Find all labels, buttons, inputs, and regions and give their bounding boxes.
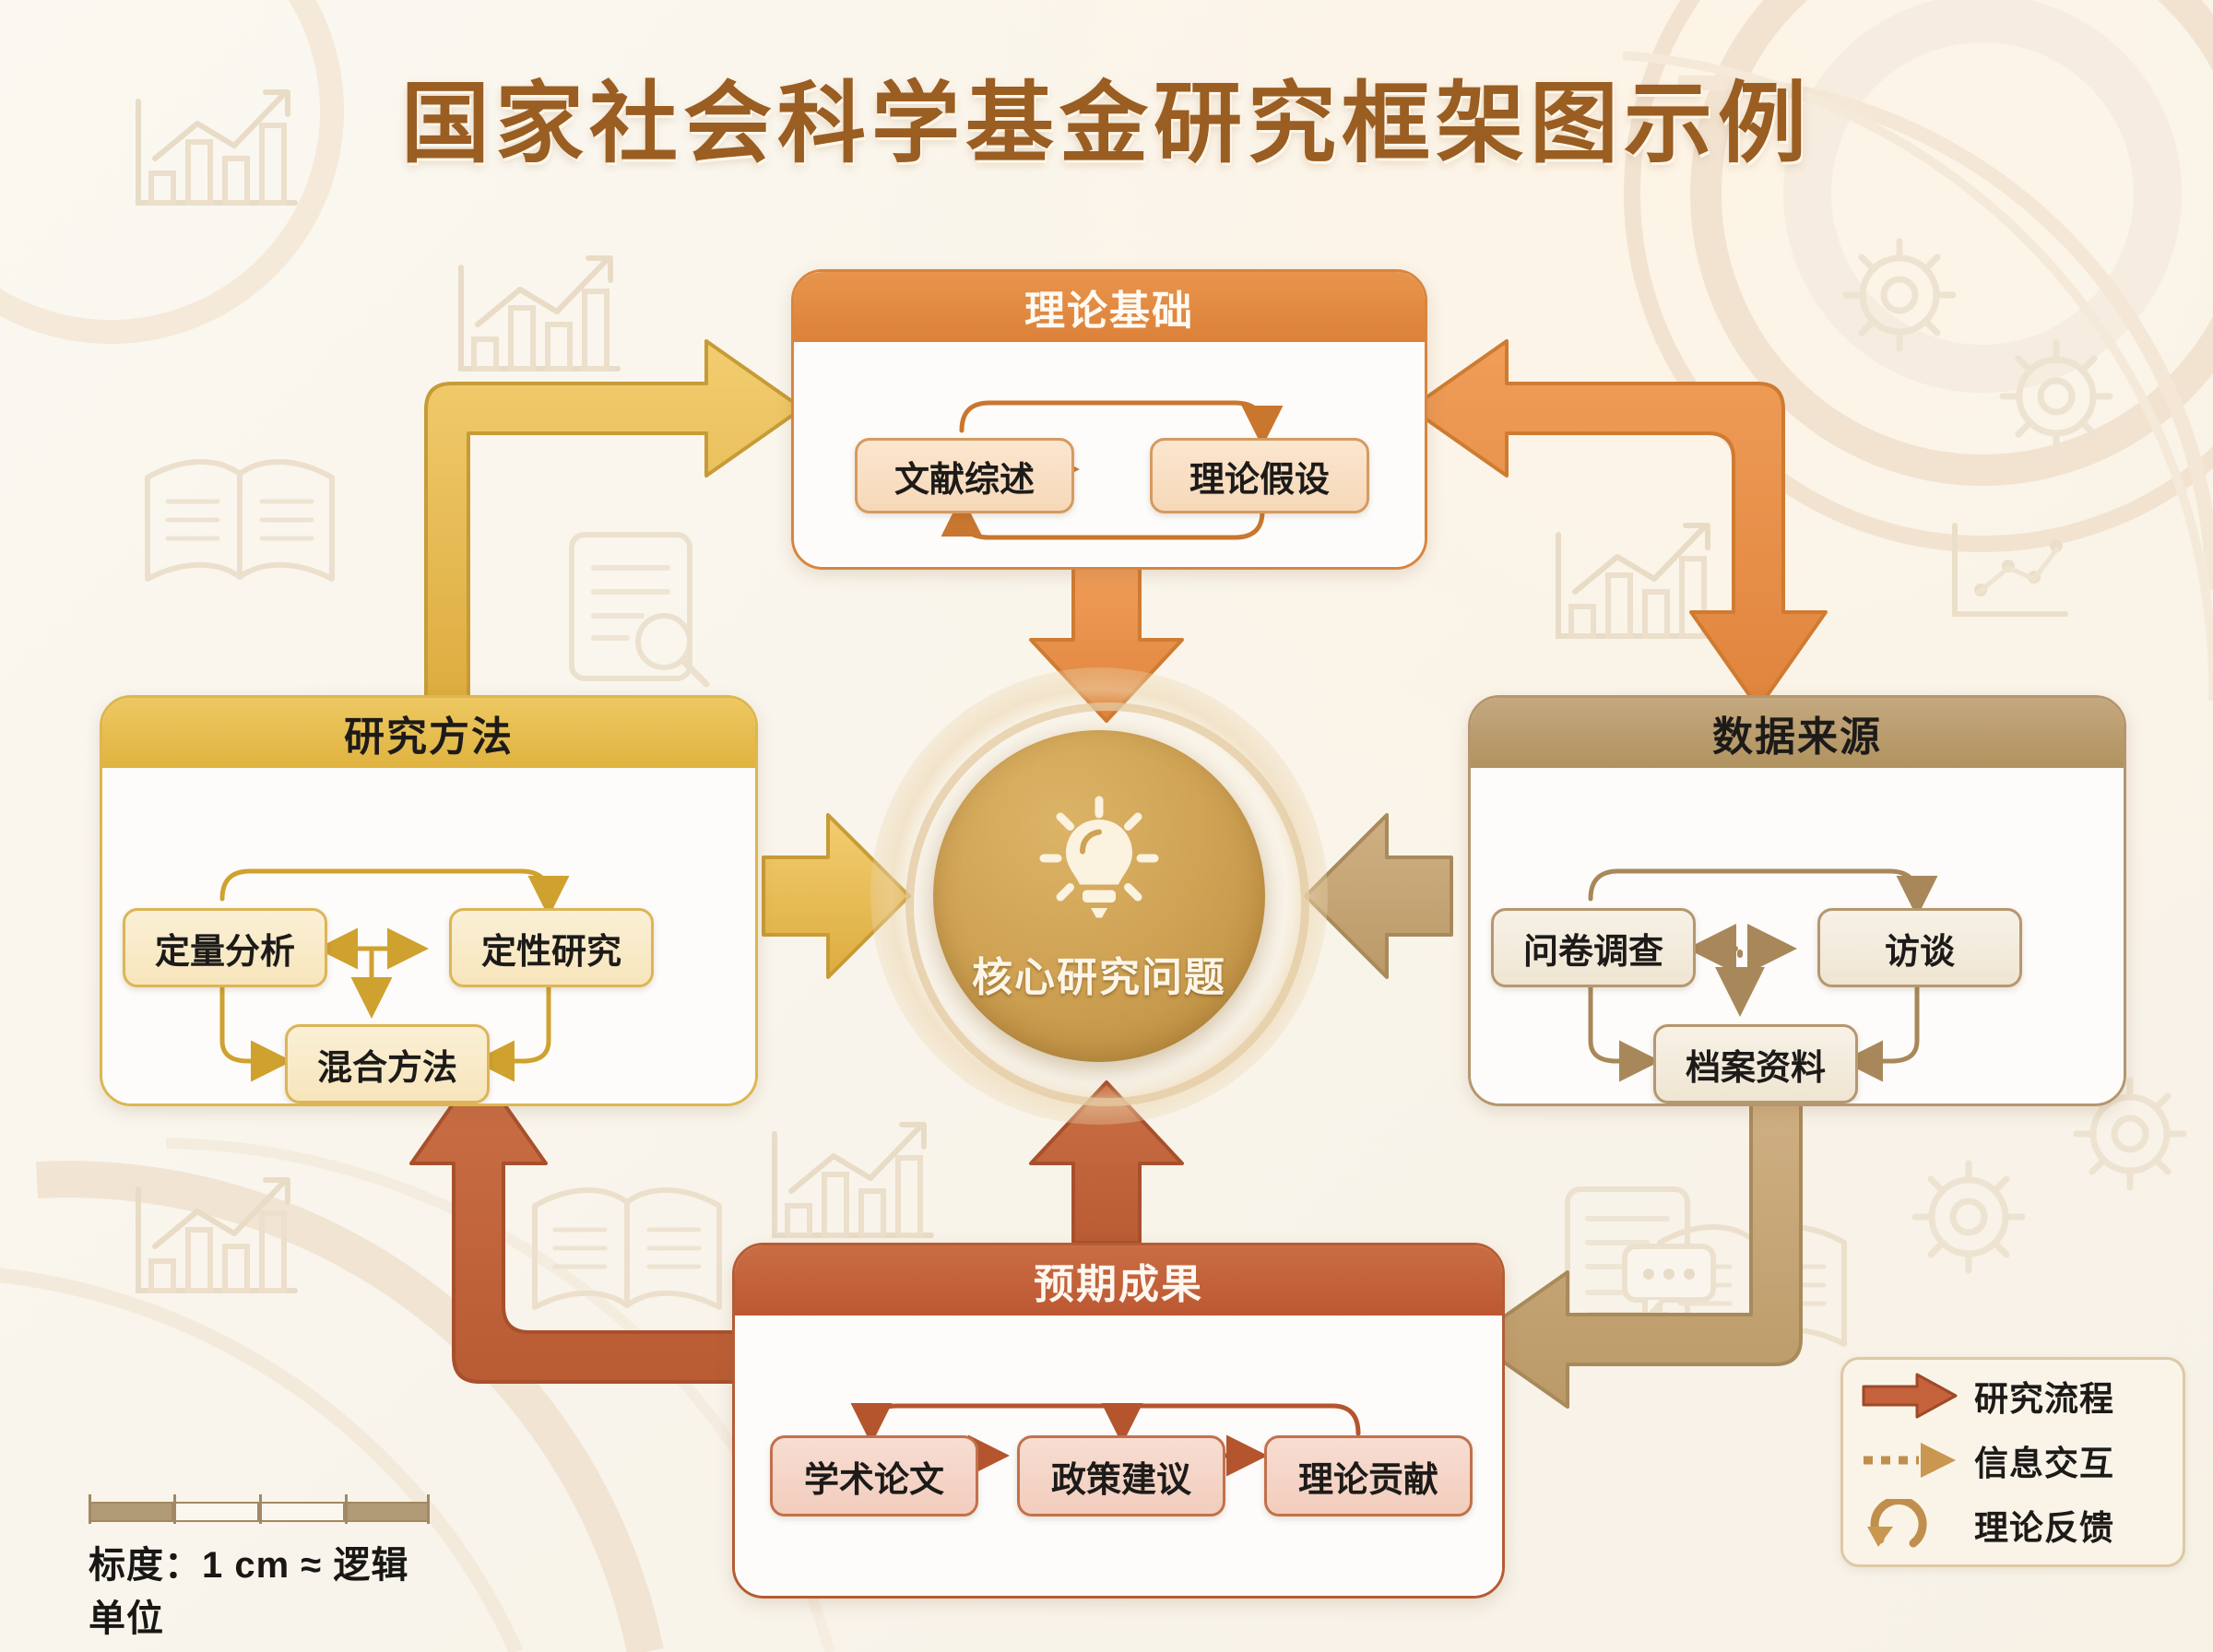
center-hub[interactable]: 核心研究问题 [865,662,1333,1130]
arrow-data-to-outcomes [1472,1093,1801,1407]
legend-label: 理论反馈 [1974,1500,2114,1550]
scale-tick [345,1494,348,1524]
node-interview[interactable]: 访谈 [1817,908,2022,987]
lightbulb-icon [1030,789,1168,927]
diagram-canvas: 国家社会科学基金研究框架图示例 理论基础 文献综述 [0,0,2213,1652]
node-mixed-methods[interactable]: 混合方法 [285,1024,490,1103]
core-label: 核心研究问题 [972,944,1226,1003]
node-theoretical-contribution[interactable]: 理论贡献 [1264,1435,1473,1516]
legend-item-feedback[interactable]: 理论反馈 [1860,1496,2114,1553]
scale-bar-group: 标度：1 cm ≈ 逻辑单位 [89,1494,430,1642]
scale-tick [427,1494,430,1524]
node-label: 理论假设 [1189,451,1330,501]
legend-item-interaction[interactable]: 信息交互 [1860,1432,2114,1489]
scale-segment [89,1502,173,1522]
scale-tick [89,1494,91,1524]
scale-label: 标度：1 cm ≈ 逻辑单位 [89,1535,430,1642]
node-label: 文献综述 [894,451,1035,501]
scale-tick [173,1494,176,1524]
panel-outcomes-title: 预期成果 [735,1245,1502,1316]
panel-methods[interactable]: 研究方法 [100,695,758,1106]
node-policy-recommendation[interactable]: 政策建议 [1017,1435,1225,1516]
node-academic-paper[interactable]: 学术论文 [770,1435,978,1516]
legend-label: 信息交互 [1974,1435,2114,1485]
legend-panel: 研究流程 信息交互 理论反馈 [1840,1357,2185,1567]
arrow-outcomes-to-methods [411,1068,738,1382]
node-theoretical-hypothesis[interactable]: 理论假设 [1150,438,1369,513]
panel-methods-title: 研究方法 [102,698,755,768]
panel-theory-title: 理论基础 [794,272,1425,342]
title-bar: 国家社会科学基金研究框架图示例 [0,52,2213,180]
curved-feedback-arrow-icon [1860,1499,1961,1551]
node-label: 理论贡献 [1298,1451,1438,1502]
panel-data[interactable]: 数据来源 [1468,695,2126,1106]
legend-label: 研究流程 [1974,1371,2114,1421]
legend-item-process[interactable]: 研究流程 [1860,1367,2114,1424]
node-label: 问卷调查 [1523,923,1663,973]
node-literature-review[interactable]: 文献综述 [855,438,1074,513]
node-label: 定量分析 [155,923,295,973]
scale-segment [345,1502,430,1522]
panel-theory[interactable]: 理论基础 文献综述 理论假设 [791,269,1427,570]
node-qualitative-research[interactable]: 定性研究 [449,908,654,987]
node-label: 混合方法 [317,1039,457,1090]
node-archival-materials[interactable]: 档案资料 [1653,1024,1858,1103]
page-title: 国家社会科学基金研究框架图示例 [0,52,2213,180]
scale-bar [89,1494,430,1522]
panel-data-title: 数据来源 [1471,698,2124,768]
node-label: 访谈 [1885,923,1955,973]
scale-segment [173,1502,259,1522]
node-questionnaire-survey[interactable]: 问卷调查 [1491,908,1696,987]
node-label: 政策建议 [1051,1451,1191,1502]
panel-outcomes[interactable]: 预期成果 学术论文 政策建议 [732,1243,1505,1599]
scale-tick [259,1494,262,1524]
arrow-theory-to-data [1411,341,1826,708]
node-quantitative-analysis[interactable]: 定量分析 [123,908,327,987]
core-circle[interactable]: 核心研究问题 [933,730,1265,1062]
node-label: 学术论文 [804,1451,944,1502]
node-label: 档案资料 [1686,1039,1826,1090]
dotted-arrow-icon [1860,1434,1961,1486]
arrow-methods-to-theory [426,341,802,701]
solid-arrow-icon [1860,1370,1961,1422]
scale-segment [259,1502,345,1522]
node-label: 定性研究 [481,923,621,973]
